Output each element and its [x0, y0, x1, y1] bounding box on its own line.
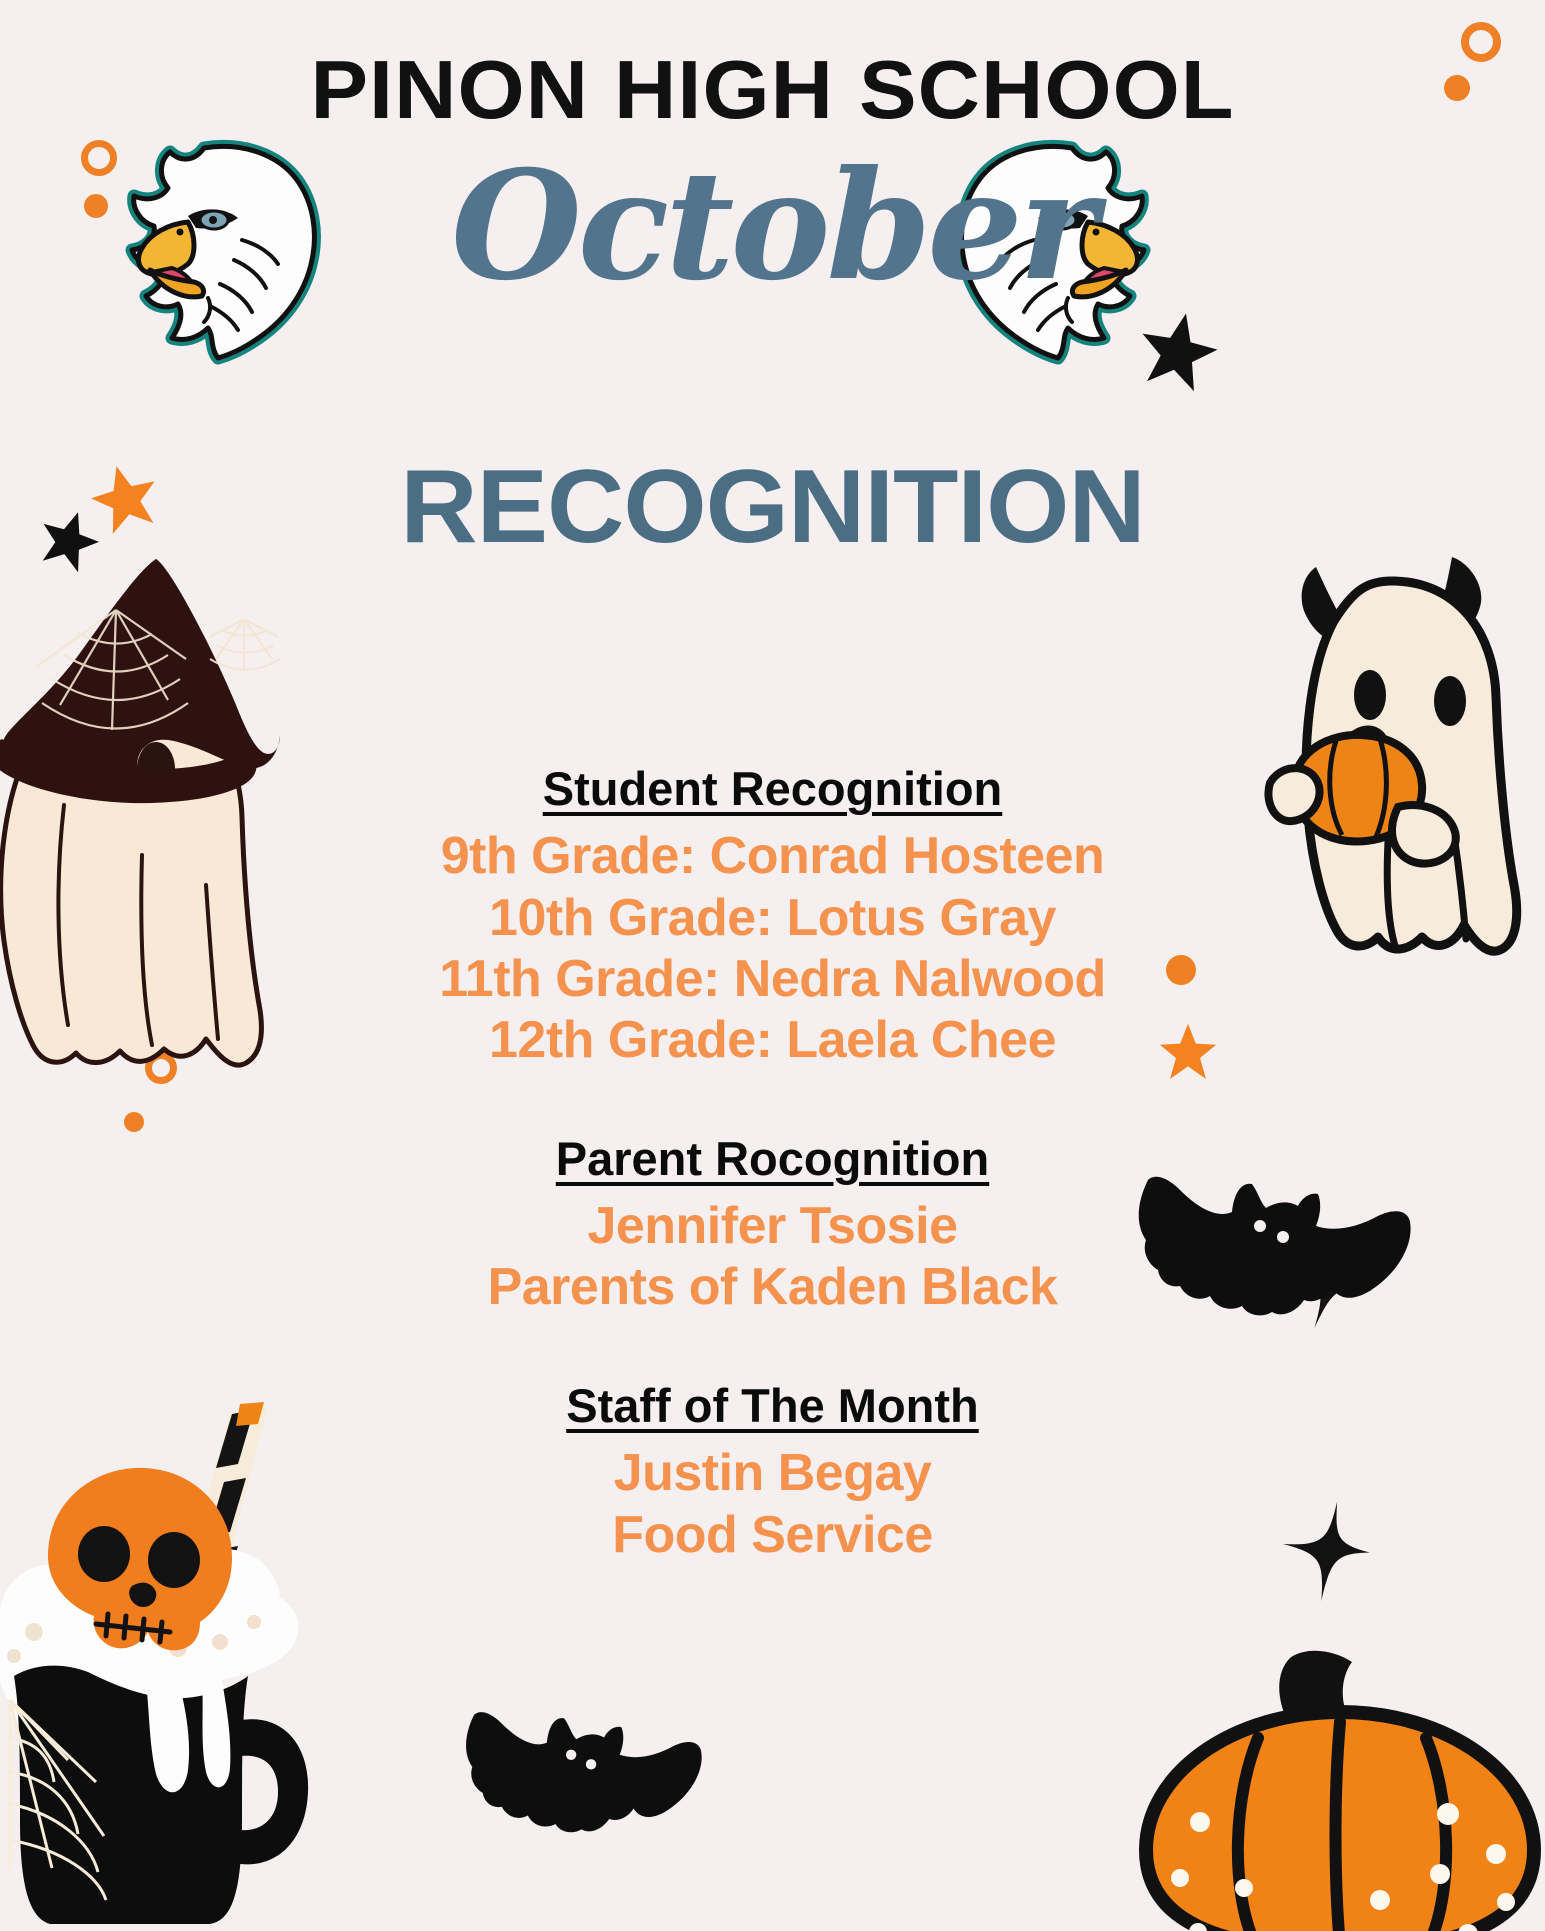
pumpkin-bottom-right	[1130, 1650, 1545, 1931]
section-parent-recognition: Parent Rocognition Jennifer Tsosie Paren…	[0, 1130, 1545, 1319]
section-heading: Student Recognition	[0, 760, 1545, 817]
section-staff-of-the-month: Staff of The Month Justin Begay Food Ser…	[0, 1377, 1545, 1566]
section-heading: Parent Rocognition	[0, 1130, 1545, 1187]
recognition-line: 12th Grade: Laela Chee	[0, 1010, 1545, 1071]
section-heading: Staff of The Month	[0, 1377, 1545, 1434]
recognition-line: 10th Grade: Lotus Gray	[0, 888, 1545, 949]
recognition-line: Parents of Kaden Black	[0, 1257, 1545, 1318]
bat-bottom-center	[455, 1688, 715, 1858]
recognition-line: Food Service	[0, 1505, 1545, 1566]
month-script-title: October	[0, 138, 1545, 314]
recognition-line: 11th Grade: Nedra Nalwood	[0, 949, 1545, 1010]
school-name-title: PINON HIGH SCHOOL	[0, 42, 1545, 138]
recognition-line: Jennifer Tsosie	[0, 1196, 1545, 1257]
october-recognition-poster: PINON HIGH SCHOOL October RECOGNITION St…	[0, 0, 1545, 1931]
recognition-content: Student Recognition 9th Grade: Conrad Ho…	[0, 760, 1545, 1566]
page-title: RECOGNITION	[0, 448, 1545, 567]
section-student-recognition: Student Recognition 9th Grade: Conrad Ho…	[0, 760, 1545, 1072]
recognition-line: 9th Grade: Conrad Hosteen	[0, 826, 1545, 887]
recognition-line: Justin Begay	[0, 1443, 1545, 1504]
